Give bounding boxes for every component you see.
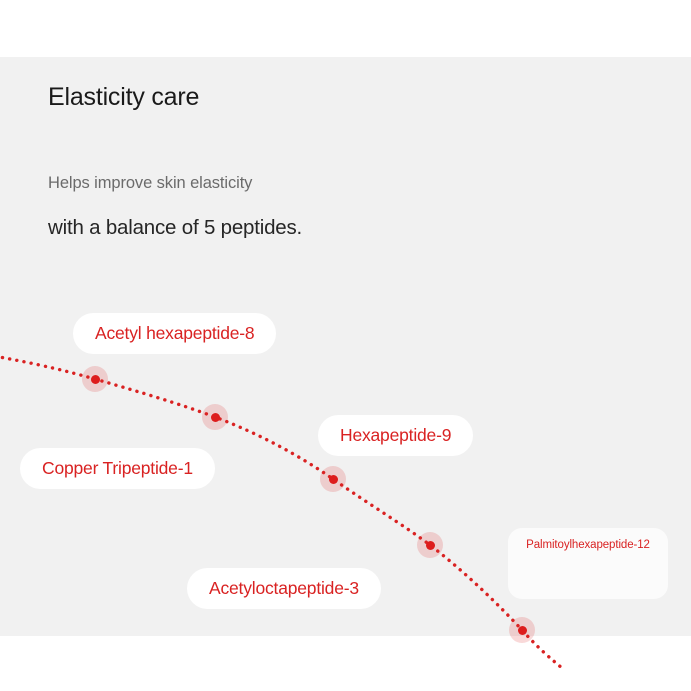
data-point-marker[interactable] (320, 466, 346, 492)
peptide-label-hexapeptide-9[interactable]: Hexapeptide-9 (318, 415, 473, 456)
peptide-label-copper-tripeptide-1[interactable]: Copper Tripeptide-1 (20, 448, 215, 489)
peptide-label-palmitoylhexapeptide-12-text: Palmitoylhexapeptide-12 (508, 539, 668, 551)
screen-root: Elasticity care Helps improve skin elast… (0, 0, 691, 691)
peptide-label-acetyl-hexapeptide-8[interactable]: Acetyl hexapeptide-8 (73, 313, 276, 354)
data-point-marker[interactable] (202, 404, 228, 430)
data-point-marker[interactable] (509, 617, 535, 643)
subtitle-line-2: with a balance of 5 peptides. (48, 216, 302, 240)
data-point-marker[interactable] (82, 366, 108, 392)
peptide-label-palmitoylhexapeptide-12[interactable]: Palmitoylhexapeptide-12 (508, 528, 668, 599)
page-title: Elasticity care (48, 83, 199, 112)
subtitle-line-1: Helps improve skin elasticity (48, 174, 252, 193)
data-point-marker[interactable] (417, 532, 443, 558)
peptide-label-acetyloctapeptide-3[interactable]: Acetyloctapeptide-3 (187, 568, 381, 609)
